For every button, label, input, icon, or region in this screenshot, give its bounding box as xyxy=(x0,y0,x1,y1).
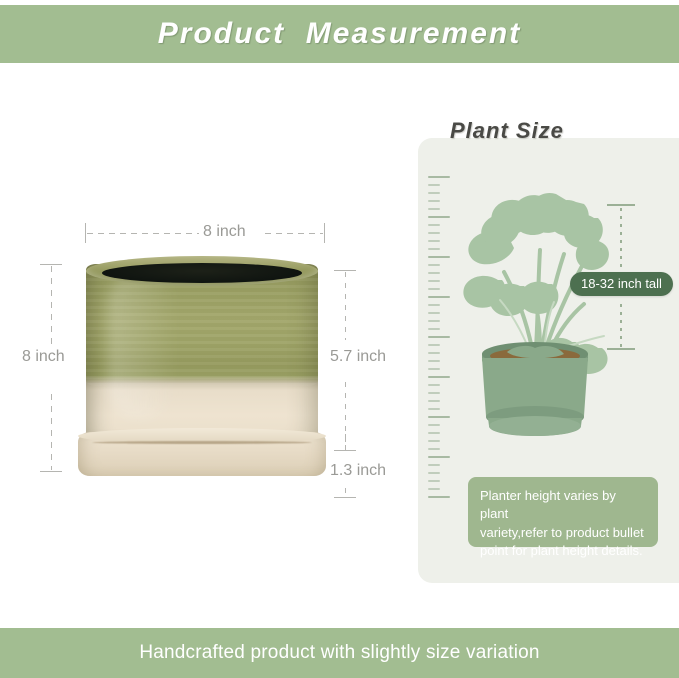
footer-note: Handcrafted product with slightly size v… xyxy=(139,642,539,664)
dimension-top-width: 8 inch xyxy=(85,223,325,245)
ruler-tick-minor xyxy=(428,208,440,210)
dimension-left-height: 8 inch xyxy=(40,264,62,472)
ruler-tick-minor xyxy=(428,248,440,250)
ruler-tick-minor xyxy=(428,344,440,346)
ruler-tick-minor xyxy=(428,312,440,314)
ruler-tick-major xyxy=(428,296,450,298)
ruler-tick-major xyxy=(428,416,450,418)
bracket-dots-lower xyxy=(620,304,622,348)
note-line-2: variety,refer to product bullet xyxy=(480,524,646,542)
planter-body xyxy=(86,256,318,452)
ruler-tick-minor xyxy=(428,328,440,330)
plant-size-title: Plant Size xyxy=(450,118,564,144)
dimension-cap-bottom xyxy=(40,471,62,472)
ruler-tick-minor xyxy=(428,320,440,322)
bracket-cap-bottom xyxy=(607,348,635,350)
ruler-tick-minor xyxy=(428,272,440,274)
ruler-tick-minor xyxy=(428,384,440,386)
dimension-dash-upper xyxy=(345,272,346,340)
planter-highlight xyxy=(108,270,178,420)
dimension-saucer-height: 1.3 inch xyxy=(334,450,356,498)
ruler-tick-minor xyxy=(428,448,440,450)
saucer-seam xyxy=(92,441,312,444)
ruler-tick-minor xyxy=(428,432,440,434)
ruler-tick-minor xyxy=(428,224,440,226)
bracket-cap-top xyxy=(607,204,635,206)
ruler-tick-major xyxy=(428,256,450,258)
dimension-dash-lower xyxy=(345,488,346,497)
plant-height-badge: 18-32 inch tall xyxy=(570,272,673,296)
planter-saucer xyxy=(78,428,326,484)
dimension-label-body-height: 5.7 inch xyxy=(330,348,386,366)
ruler-tick-minor xyxy=(428,488,440,490)
ruler-tick-minor xyxy=(428,472,440,474)
ruler-tick-minor xyxy=(428,464,440,466)
ruler-tick-minor xyxy=(428,304,440,306)
plant-illustration xyxy=(452,188,618,440)
product-photo xyxy=(78,256,326,494)
ruler-tick-minor xyxy=(428,424,440,426)
ruler-tick-major xyxy=(428,456,450,458)
ruler-tick-major xyxy=(428,336,450,338)
note-line-1: Planter height varies by plant xyxy=(480,487,646,524)
dimension-cap-bottom xyxy=(334,497,356,498)
dimension-label-top-width: 8 inch xyxy=(203,223,246,241)
ruler-tick-major xyxy=(428,216,450,218)
dimension-label-saucer-height: 1.3 inch xyxy=(330,462,386,480)
ruler-tick-minor xyxy=(428,400,440,402)
footer-banner: Handcrafted product with slightly size v… xyxy=(0,628,679,678)
ruler-tick-minor xyxy=(428,184,440,186)
ruler-tick-minor xyxy=(428,480,440,482)
dimension-cap-top xyxy=(40,264,62,265)
dimension-cap-left xyxy=(85,223,86,243)
ruler-tick-minor xyxy=(428,392,440,394)
page-title: Product Measurement xyxy=(158,17,521,51)
ruler-tick-minor xyxy=(428,408,440,410)
ruler-tick-major xyxy=(428,176,450,178)
ruler-scale xyxy=(428,176,454,506)
header-banner: Product Measurement xyxy=(0,5,679,63)
ruler-tick-minor xyxy=(428,280,440,282)
ruler-tick-minor xyxy=(428,352,440,354)
ruler-tick-minor xyxy=(428,360,440,362)
ruler-tick-minor xyxy=(428,288,440,290)
ruler-tick-major xyxy=(428,496,450,498)
plant-height-note: Planter height varies by plant variety,r… xyxy=(468,477,658,547)
dimension-dash-left xyxy=(87,233,199,234)
infographic-canvas: Product Measurement 8 inch 8 inch xyxy=(0,0,679,678)
plant-pot xyxy=(482,342,588,436)
ruler-tick-minor xyxy=(428,232,440,234)
ruler-tick-major xyxy=(428,376,450,378)
ruler-tick-minor xyxy=(428,192,440,194)
ruler-tick-minor xyxy=(428,200,440,202)
planter-opening xyxy=(102,263,302,283)
dimension-dash-upper xyxy=(51,266,52,344)
dimension-cap-top xyxy=(334,450,356,451)
dimension-cap-right xyxy=(324,223,325,243)
bracket-dots-upper xyxy=(620,208,622,270)
dimension-dash-upper xyxy=(345,434,346,450)
dimension-dash-lower xyxy=(51,394,52,470)
ruler-tick-minor xyxy=(428,440,440,442)
note-line-3: point for plant height details. xyxy=(480,542,646,560)
dimension-label-left-height: 8 inch xyxy=(22,348,65,366)
dimension-cap-top xyxy=(334,270,356,271)
ruler-tick-minor xyxy=(428,264,440,266)
ruler-tick-minor xyxy=(428,368,440,370)
dimension-dash-right xyxy=(265,233,323,234)
ruler-tick-minor xyxy=(428,240,440,242)
